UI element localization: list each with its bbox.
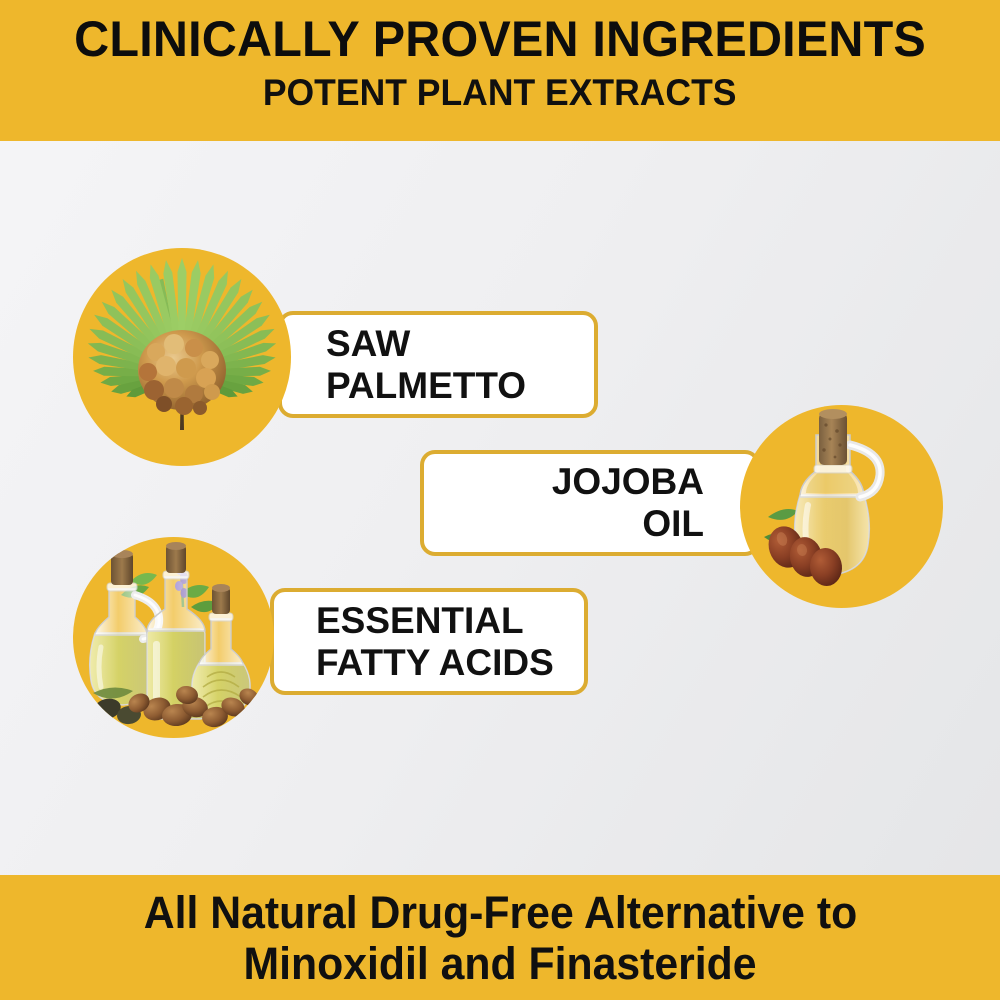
ingredient-label-jojoba-oil[interactable]: JOJOBA OIL <box>420 450 760 556</box>
jojoba-oil-bottle-icon <box>740 405 943 608</box>
header-banner: CLINICALLY PROVEN INGREDIENTS POTENT PLA… <box>0 0 1000 141</box>
ingredients-infographic: CLINICALLY PROVEN INGREDIENTS POTENT PLA… <box>0 0 1000 1000</box>
oil-bottles-nuts-icon <box>73 537 274 738</box>
page-title: CLINICALLY PROVEN INGREDIENTS <box>74 8 926 70</box>
ingredient-label-line2: OIL <box>642 503 704 545</box>
page-subtitle: POTENT PLANT EXTRACTS <box>263 70 737 115</box>
ingredient-label-line2: PALMETTO <box>326 365 526 407</box>
ingredient-label-line2: FATTY ACIDS <box>316 642 554 684</box>
ingredient-label-line1: JOJOBA <box>552 461 704 503</box>
footer-line-1: All Natural Drug-Free Alternative to <box>143 887 856 938</box>
ingredient-label-line1: ESSENTIAL <box>316 600 524 642</box>
saw-palmetto-leaf-icon <box>73 248 291 466</box>
ingredient-label-essential-fatty-acids[interactable]: ESSENTIAL FATTY ACIDS <box>270 588 588 695</box>
footer-banner: All Natural Drug-Free Alternative to Min… <box>0 875 1000 1000</box>
footer-line-2: Minoxidil and Finasteride <box>243 938 756 989</box>
ingredient-label-saw-palmetto[interactable]: SAW PALMETTO <box>278 311 598 418</box>
ingredient-label-line1: SAW <box>326 323 410 365</box>
